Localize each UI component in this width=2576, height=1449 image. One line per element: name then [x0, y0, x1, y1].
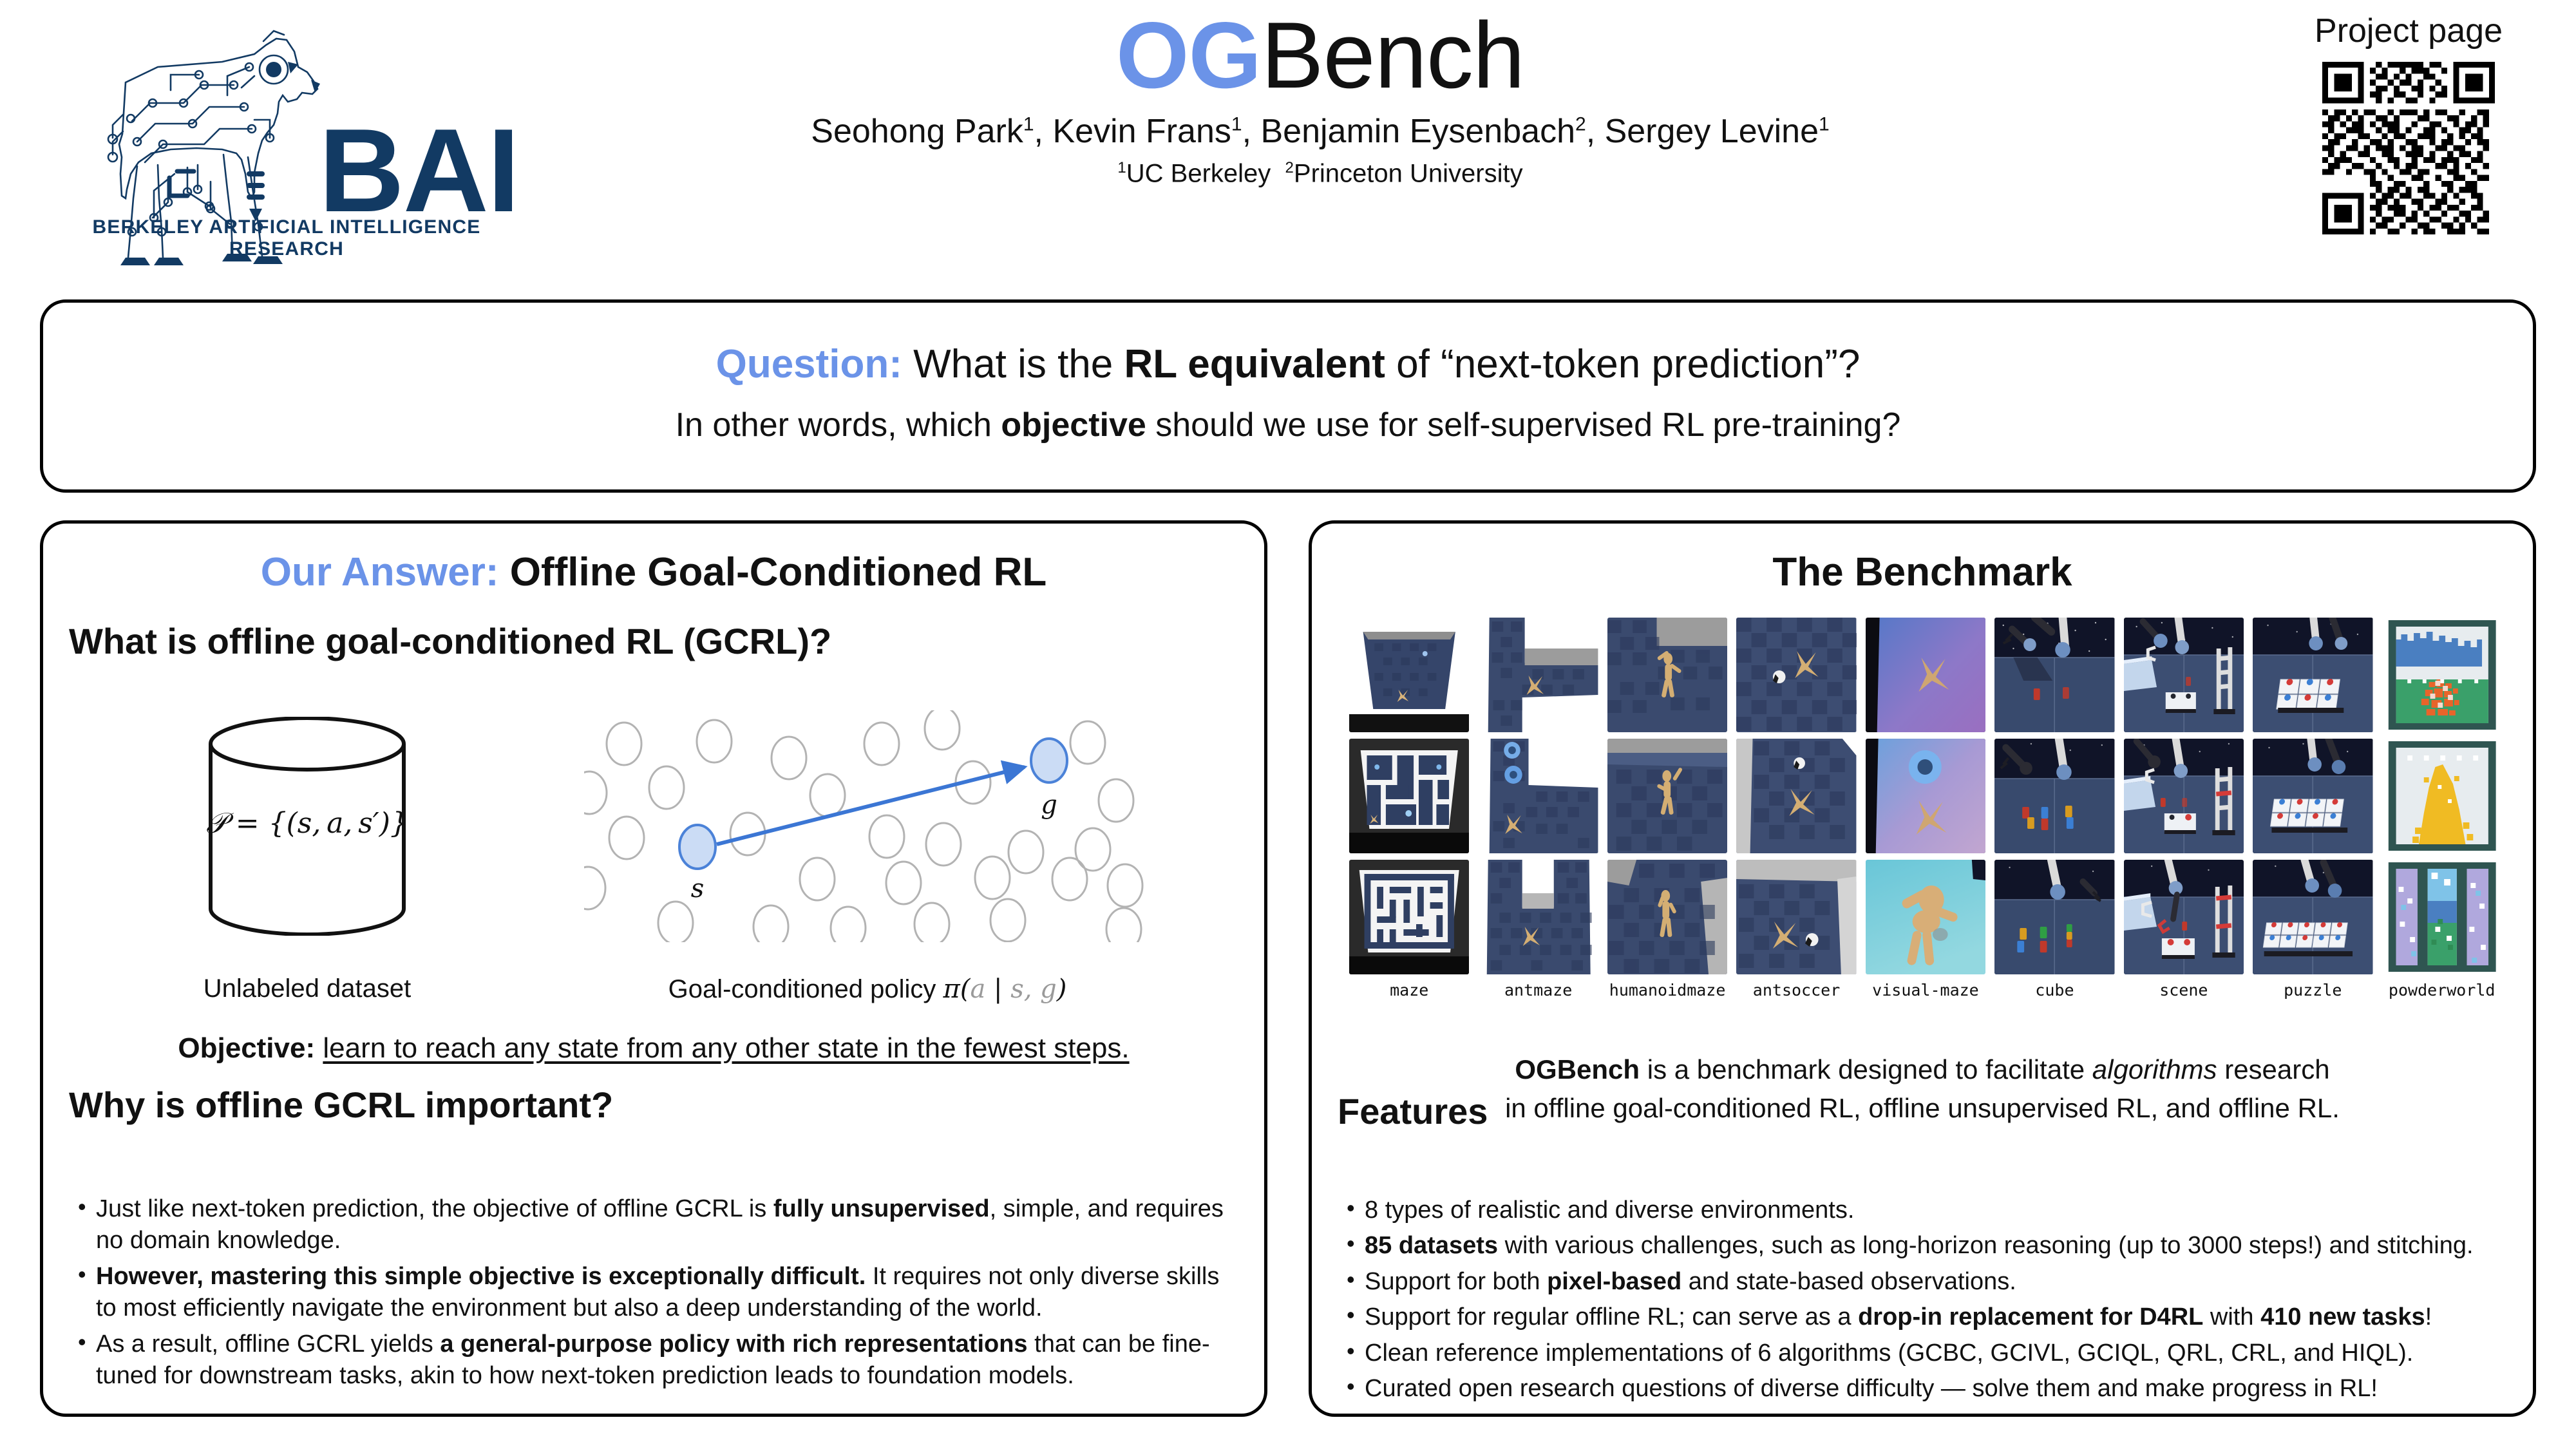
env-thumb-cube-1 — [1994, 618, 2114, 732]
author-list: Seohong Park1, Kevin Frans1, Benjamin Ey… — [721, 113, 1919, 150]
answer-bullet-list: Just like next-token prediction, the obj… — [73, 1193, 1238, 1396]
environment-image-grid: mazeantmazehumanoidmazeantsoccervisual-m… — [1349, 618, 2502, 999]
objective-lead: Objective: — [178, 1032, 315, 1064]
env-thumb-antmaze-2 — [1478, 739, 1598, 853]
env-label-powderworld: powderworld — [2382, 981, 2502, 999]
list-item-emphasis: a general-purpose policy with rich repre… — [440, 1331, 1027, 1358]
env-thumb-maze-2 — [1349, 739, 1469, 853]
list-item-text: Curated open research questions of diver… — [1365, 1375, 2378, 1402]
env-thumb-cube-3 — [1994, 860, 2114, 974]
benchmark-heading: The Benchmark — [1312, 549, 2533, 595]
env-thumb-cube-2 — [1994, 739, 2114, 853]
svg-text:g: g — [1041, 790, 1057, 820]
env-thumb-powderworld-2 — [2382, 739, 2502, 853]
env-thumb-scene-2 — [2124, 739, 2244, 853]
list-item: However, mastering this simple objective… — [73, 1261, 1238, 1325]
list-item: 85 datasets with various challenges, suc… — [1341, 1230, 2507, 1262]
gcrl-figure-area: 𝒫 = {(s, a, s′)} — [43, 717, 1264, 1026]
question-line1-b: of “next-token prediction”? — [1385, 342, 1861, 386]
env-thumb-powderworld-1 — [2382, 618, 2502, 732]
benchmark-desc-italic: algorithms — [2092, 1054, 2217, 1084]
project-page-label: Project page — [2273, 12, 2544, 50]
section-heading-why: Why is offline GCRL important? — [69, 1084, 613, 1126]
env-label-cube: cube — [1994, 981, 2114, 999]
list-item-text: and state-based observations. — [1681, 1268, 2016, 1295]
svg-text:s: s — [691, 874, 705, 904]
question-panel: Question: What is the RL equivalent of “… — [40, 299, 2536, 493]
question-line-1: Question: What is the RL equivalent of “… — [43, 341, 2533, 387]
env-thumb-puzzle-1 — [2253, 618, 2372, 732]
env-label-visual-maze: visual-maze — [1866, 981, 1985, 999]
env-row-3 — [1349, 860, 2502, 974]
list-item-emphasis: 410 new tasks — [2260, 1303, 2425, 1331]
list-item: Just like next-token prediction, the obj… — [73, 1193, 1238, 1257]
question-line-2: In other words, which objective should w… — [43, 406, 2533, 444]
env-thumb-visual-maze-2 — [1866, 739, 1985, 853]
env-label-humanoidmaze: humanoidmaze — [1607, 981, 1727, 999]
env-thumb-scene-1 — [2124, 618, 2244, 732]
list-item: Support for regular offline RL; can serv… — [1341, 1302, 2507, 1333]
title-rest: Bench — [1261, 3, 1524, 108]
question-line1-bold: RL equivalent — [1124, 342, 1385, 386]
env-label-row: mazeantmazehumanoidmazeantsoccervisual-m… — [1349, 981, 2502, 999]
benchmark-desc-a: is a benchmark designed to facilitate — [1640, 1054, 2092, 1084]
list-item-text: Support for regular offline RL; can serv… — [1365, 1303, 1858, 1331]
list-item-text: Support for both — [1365, 1268, 1547, 1295]
project-page-block[interactable]: Project page — [2273, 12, 2544, 234]
env-thumb-humanoidmaze-3 — [1607, 860, 1727, 974]
list-item-text: As a result, offline GCRL yields — [96, 1331, 440, 1358]
question-line2-bold: objective — [1001, 406, 1146, 444]
page-title: OGBench — [721, 6, 1919, 104]
env-thumb-antsoccer-3 — [1736, 860, 1856, 974]
env-thumb-antsoccer-1 — [1736, 618, 1856, 732]
question-line1-a: What is the — [902, 342, 1124, 386]
list-item-text: with various challenges, such as long-ho… — [1498, 1232, 2474, 1259]
list-item-emphasis: 85 datasets — [1365, 1232, 1498, 1259]
list-item: Curated open research questions of diver… — [1341, 1373, 2507, 1405]
list-item-text: 8 types of realistic and diverse environ… — [1365, 1197, 1854, 1224]
answer-panel: Our Answer: Offline Goal-Conditioned RL … — [40, 520, 1267, 1417]
caption-unlabeled-dataset: Unlabeled dataset — [191, 974, 423, 1003]
bair-logo: BAIR BERKELEY ARTIFICIAL INTELLIGENCE RE… — [61, 5, 512, 276]
caption-policy-text: Goal-conditioned policy — [668, 975, 943, 1003]
list-item-text: Clean reference implementations of 6 alg… — [1365, 1340, 2413, 1367]
benchmark-desc-line2: in offline goal-conditioned RL, offline … — [1505, 1093, 2340, 1123]
poster-root: BAIR BERKELEY ARTIFICIAL INTELLIGENCE RE… — [0, 0, 2576, 1449]
benchmark-desc-b: research — [2217, 1054, 2330, 1084]
objective-line: Objective: learn to reach any state from… — [43, 1032, 1264, 1065]
title-block: OGBench Seohong Park1, Kevin Frans1, Ben… — [721, 6, 1919, 188]
features-bullet-list: 8 types of realistic and diverse environ… — [1341, 1195, 2507, 1408]
list-item: Clean reference implementations of 6 alg… — [1341, 1338, 2507, 1369]
list-item: 8 types of realistic and diverse environ… — [1341, 1195, 2507, 1226]
benchmark-description: OGBench is a benchmark designed to facil… — [1312, 1050, 2533, 1127]
list-item-emphasis: drop-in replacement for D4RL — [1858, 1303, 2203, 1331]
env-label-antsoccer: antsoccer — [1736, 981, 1856, 999]
list-item-emphasis: pixel-based — [1547, 1268, 1681, 1295]
env-thumb-antsoccer-2 — [1736, 739, 1856, 853]
section-heading-gcrl: What is offline goal-conditioned RL (GCR… — [69, 620, 831, 662]
env-thumb-puzzle-2 — [2253, 739, 2372, 853]
list-item-text: with — [2203, 1303, 2260, 1331]
question-lead: Question: — [716, 342, 902, 386]
objective-text: learn to reach any state from any other … — [323, 1032, 1129, 1064]
section-heading-features: Features — [1338, 1090, 1488, 1132]
qr-code-icon[interactable] — [2322, 62, 2495, 234]
question-line2-a: In other words, which — [676, 406, 1001, 444]
benchmark-panel: The Benchmark — [1309, 520, 2536, 1417]
poster-header: BAIR BERKELEY ARTIFICIAL INTELLIGENCE RE… — [0, 0, 2576, 291]
env-label-antmaze: antmaze — [1478, 981, 1598, 999]
env-thumb-visual-maze-1 — [1866, 618, 1985, 732]
state-space-diagram: s g — [584, 710, 1151, 942]
env-label-puzzle: puzzle — [2253, 981, 2372, 999]
env-thumb-antmaze-3 — [1478, 860, 1598, 974]
env-thumb-maze-1 — [1349, 618, 1469, 732]
answer-heading-rest: Offline Goal-Conditioned RL — [499, 550, 1047, 594]
env-label-maze: maze — [1349, 981, 1469, 999]
env-thumb-scene-3 — [2124, 860, 2244, 974]
env-thumb-visual-maze-3 — [1866, 860, 1985, 974]
env-label-scene: scene — [2124, 981, 2244, 999]
caption-goal-conditioned-policy: Goal-conditioned policy π(a | s, g) — [533, 974, 1202, 1004]
list-item: As a result, offline GCRL yields a gener… — [73, 1329, 1238, 1392]
list-item-text: ! — [2425, 1303, 2432, 1331]
question-line2-b: should we use for self-supervised RL pre… — [1146, 406, 1901, 444]
list-item-emphasis: However, mastering this simple objective… — [96, 1263, 866, 1290]
env-thumb-antmaze-1 — [1478, 618, 1598, 732]
bair-logo-subtitle: BERKELEY ARTIFICIAL INTELLIGENCE RESEARC… — [61, 216, 512, 260]
title-accent: OG — [1116, 3, 1261, 108]
answer-heading: Our Answer: Offline Goal-Conditioned RL — [43, 549, 1264, 595]
benchmark-name: OGBench — [1515, 1054, 1640, 1084]
env-row-1 — [1349, 618, 2502, 732]
env-thumb-humanoidmaze-1 — [1607, 618, 1727, 732]
dataset-equation: 𝒫 = {(s, a, s′)} — [190, 807, 424, 840]
list-item: Support for both pixel-based and state-b… — [1341, 1266, 2507, 1298]
env-thumb-maze-3 — [1349, 860, 1469, 974]
env-thumb-powderworld-3 — [2382, 860, 2502, 974]
affiliation-list: 1UC Berkeley 2Princeton University — [721, 159, 1919, 188]
env-thumb-puzzle-3 — [2253, 860, 2372, 974]
env-row-2 — [1349, 739, 2502, 853]
env-thumb-humanoidmaze-2 — [1607, 739, 1727, 853]
list-item-emphasis: fully unsupervised — [773, 1195, 990, 1222]
list-item-text: Just like next-token prediction, the obj… — [96, 1195, 773, 1222]
answer-heading-lead: Our Answer: — [261, 550, 499, 594]
